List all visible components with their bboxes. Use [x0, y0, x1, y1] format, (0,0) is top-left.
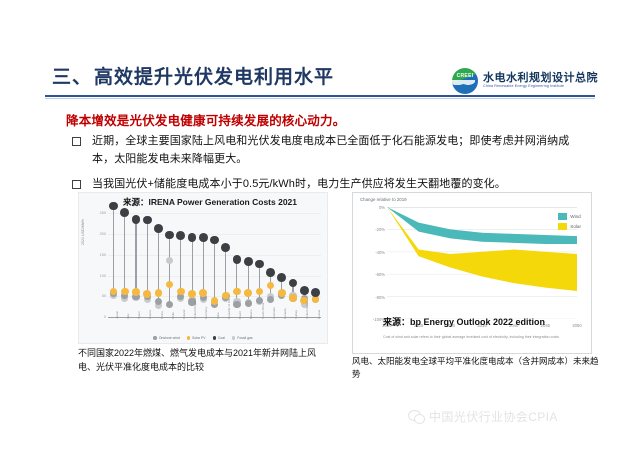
irena-y-tick: 100: [100, 274, 106, 278]
bp-caption: 风电、太阳能发电全球平均平准化度电成本（含并网成本）未来趋势: [352, 355, 602, 381]
irena-plot-area: [108, 201, 321, 317]
irena-stem: [147, 220, 148, 300]
title-number: 三、: [52, 67, 92, 88]
irena-caption: 不同国家2022年燃煤、燃气发电成本与2021年新并网陆上风电、光伏平准化度电成…: [78, 347, 328, 375]
organization-logo: CREEI 水电水利规划设计总院 China Renewable Energy …: [452, 68, 598, 94]
irena-data-point: [210, 236, 219, 245]
irena-x-tick-label: Canada: [283, 308, 287, 319]
irena-data-point: [278, 289, 286, 297]
irena-data-point: [188, 290, 196, 298]
bp-y-tick: -60%: [375, 272, 385, 277]
irena-legend-label: Fossil gas: [237, 336, 252, 340]
title-divider: [45, 95, 595, 97]
irena-data-point: [300, 286, 309, 295]
irena-x-tick-label: South Africa: [261, 303, 265, 319]
irena-x-tick-label: France: [148, 310, 152, 319]
square-bullet-icon: [72, 137, 81, 146]
irena-data-point: [120, 208, 129, 217]
bp-y-ticks: 0%-20%-40%-60%-80%-100%: [359, 203, 385, 323]
title-divider-light: [45, 98, 595, 99]
bp-y-tick: -20%: [375, 227, 385, 232]
irena-data-point: [166, 257, 173, 264]
irena-stem: [135, 219, 136, 297]
irena-data-point: [244, 257, 253, 266]
bp-y-tick: -80%: [375, 295, 385, 300]
list-item: 当我国光伏+储能度电成本小于0.5元/kWh时，电力生产供应将发生天翻地覆的变化…: [66, 176, 576, 194]
irena-x-tick-label: United States: [305, 301, 309, 319]
logo-wave-icon: [452, 80, 478, 90]
irena-y-tick: 0: [104, 315, 106, 319]
irena-data-point: [256, 288, 264, 296]
irena-data-point: [109, 202, 118, 211]
irena-data-point: [289, 294, 297, 302]
irena-data-point: [277, 273, 286, 282]
bp-series-band: [387, 207, 577, 291]
list-item: 近期，全球主要国家陆上风电和光伏发电度电成本已全面低于化石能源发电；即使考虑并网…: [66, 133, 576, 169]
irena-legend-item: Fossil gas: [232, 336, 253, 340]
irena-data-point: [176, 231, 185, 240]
irena-data-point: [166, 281, 174, 289]
irena-data-point: [266, 268, 275, 277]
bp-legend-item: Wind: [558, 213, 581, 220]
irena-stem: [113, 206, 114, 295]
irena-x-tick-label: Mexico: [249, 309, 253, 319]
irena-y-axis-label: 2021 USD/MWh: [81, 219, 85, 245]
irena-legend: Onshore windSolar PVCoalFossil gas: [97, 336, 309, 340]
bp-plot-area: [387, 207, 577, 319]
irena-legend-swatch: [153, 336, 156, 339]
logo-text: 水电水利规划设计总院 China Renewable Energy Engine…: [483, 73, 598, 88]
irena-data-point: [166, 301, 173, 308]
irena-x-tick-label: Italy: [126, 313, 130, 319]
charts-row: 来源：IRENA Power Generation Costs 2021 202…: [0, 192, 640, 382]
irena-y-tick: 150: [100, 253, 106, 257]
logo-emblem-icon: CREEI: [452, 68, 478, 94]
irena-cost-chart: 来源：IRENA Power Generation Costs 2021 202…: [78, 192, 328, 344]
irena-data-point: [143, 290, 151, 298]
bullet-text: 近期，全球主要国家陆上风电和光伏发电度电成本已全面低于化石能源发电；即使考虑并网…: [92, 133, 576, 169]
bp-subtitle: Change relative to 2019: [360, 197, 407, 202]
irena-data-point: [132, 215, 141, 224]
irena-stem: [214, 240, 215, 305]
irena-data-point: [221, 243, 230, 252]
irena-stem: [259, 264, 260, 301]
irena-stem: [248, 261, 249, 303]
irena-legend-swatch: [187, 336, 190, 339]
bp-outlook-chart: Change relative to 2019 0%-20%-40%-60%-8…: [352, 192, 592, 354]
irena-data-point: [267, 282, 275, 290]
bp-legend-label: Wind: [570, 214, 580, 219]
irena-y-ticks: 050100150200250: [90, 201, 106, 317]
irena-legend-swatch: [232, 336, 235, 339]
bp-source-prefix: 来源：: [383, 317, 410, 327]
irena-gridline: [108, 234, 321, 235]
irena-x-tick-label: Republic of Korea: [227, 295, 231, 319]
bp-source-label: 来源：bp Energy Outlook 2022 edition: [383, 315, 545, 328]
irena-x-tick-label: Chile: [171, 312, 175, 319]
irena-x-tick-label: India: [216, 312, 220, 319]
irena-data-point: [245, 300, 252, 307]
irena-x-tick-label: Russia: [317, 310, 321, 319]
irena-data-point: [233, 301, 240, 308]
irena-x-tick-label: Spain: [137, 311, 141, 319]
watermark-text: 中国光伏行业协会CPIA: [429, 408, 558, 425]
bp-x-tick: 2050: [572, 323, 581, 328]
irena-legend-label: Coal: [218, 336, 225, 340]
irena-legend-item: Onshore wind: [153, 336, 179, 340]
irena-data-point: [267, 296, 274, 303]
bp-footnote: Cost of wind and solar refers to their g…: [383, 335, 583, 340]
bp-series-band: [387, 207, 577, 244]
bullet-list: 近期，全球主要国家陆上风电和光伏发电度电成本已全面低于化石能源发电；即使考虑并网…: [66, 133, 576, 200]
irena-x-tick-label: Australia: [272, 307, 276, 319]
irena-data-point: [165, 231, 174, 240]
slide: 三、高效提升光伏发电利用水平 CREEI 水电水利规划设计总院 China Re…: [0, 0, 640, 452]
irena-data-point: [155, 289, 163, 297]
irena-data-point: [199, 289, 207, 297]
square-bullet-icon: [72, 180, 81, 189]
irena-legend-item: Coal: [213, 336, 225, 340]
bullet-text: 当我国光伏+储能度电成本小于0.5元/kWh时，电力生产供应将发生天翻地覆的变化…: [92, 176, 506, 194]
irena-data-point: [188, 233, 197, 242]
bp-legend-item: Solar: [558, 223, 581, 230]
irena-data-point: [289, 279, 298, 288]
page-title: 三、高效提升光伏发电利用水平: [52, 62, 334, 89]
bp-y-tick: -40%: [375, 250, 385, 255]
wechat-bubble-small: [414, 414, 425, 424]
irena-data-point: [154, 224, 163, 233]
irena-x-tick-label: United Kingdom: [193, 298, 197, 319]
irena-data-point: [311, 288, 320, 297]
bp-source-title: bp Energy Outlook 2022 edition: [410, 317, 545, 327]
irena-data-point: [121, 288, 129, 296]
irena-legend-label: Solar PV: [192, 336, 205, 340]
irena-data-point: [233, 288, 241, 296]
wechat-icon: [408, 410, 424, 423]
irena-legend-swatch: [213, 336, 216, 339]
bp-area-svg: [387, 207, 577, 319]
irena-legend-item: Solar PV: [187, 336, 206, 340]
irena-data-point: [177, 288, 185, 296]
logo-mark-text: CREEI: [452, 73, 478, 79]
bp-legend-swatch: [558, 213, 567, 220]
bp-legend: WindSolar: [558, 213, 581, 233]
bp-y-tick: 0%: [379, 205, 385, 210]
irena-y-tick: 200: [100, 232, 106, 236]
irena-data-point: [132, 288, 140, 296]
bp-legend-swatch: [558, 223, 567, 230]
irena-x-tick-label: Brazil: [238, 311, 242, 319]
bp-legend-label: Solar: [570, 224, 581, 229]
irena-gridline: [108, 213, 321, 214]
cpia-watermark: 中国光伏行业协会CPIA: [408, 408, 558, 425]
irena-stem: [124, 213, 125, 298]
irena-x-tick-label: Turkey: [294, 310, 298, 319]
irena-x-tick-label: Japan: [115, 311, 119, 319]
irena-data-point: [244, 289, 252, 297]
irena-x-tick-label: Poland: [182, 310, 186, 319]
irena-stem: [169, 235, 170, 305]
logo-name-en: China Renewable Energy Engineering Insti…: [483, 85, 598, 89]
irena-y-tick: 50: [102, 294, 106, 298]
title-text: 高效提升光伏发电利用水平: [94, 67, 334, 88]
irena-legend-label: Onshore wind: [159, 336, 180, 340]
irena-data-point: [155, 298, 162, 305]
irena-data-point: [233, 255, 242, 264]
irena-x-tick-label: Germany: [204, 307, 208, 319]
lead-statement: 降本增效是光伏发电健康可持续发展的核心动力。: [66, 110, 345, 129]
irena-x-tick-label: China: [160, 311, 164, 319]
irena-data-point: [143, 216, 152, 225]
irena-data-point: [255, 260, 264, 269]
irena-data-point: [199, 233, 208, 242]
irena-y-tick: 250: [100, 211, 106, 215]
